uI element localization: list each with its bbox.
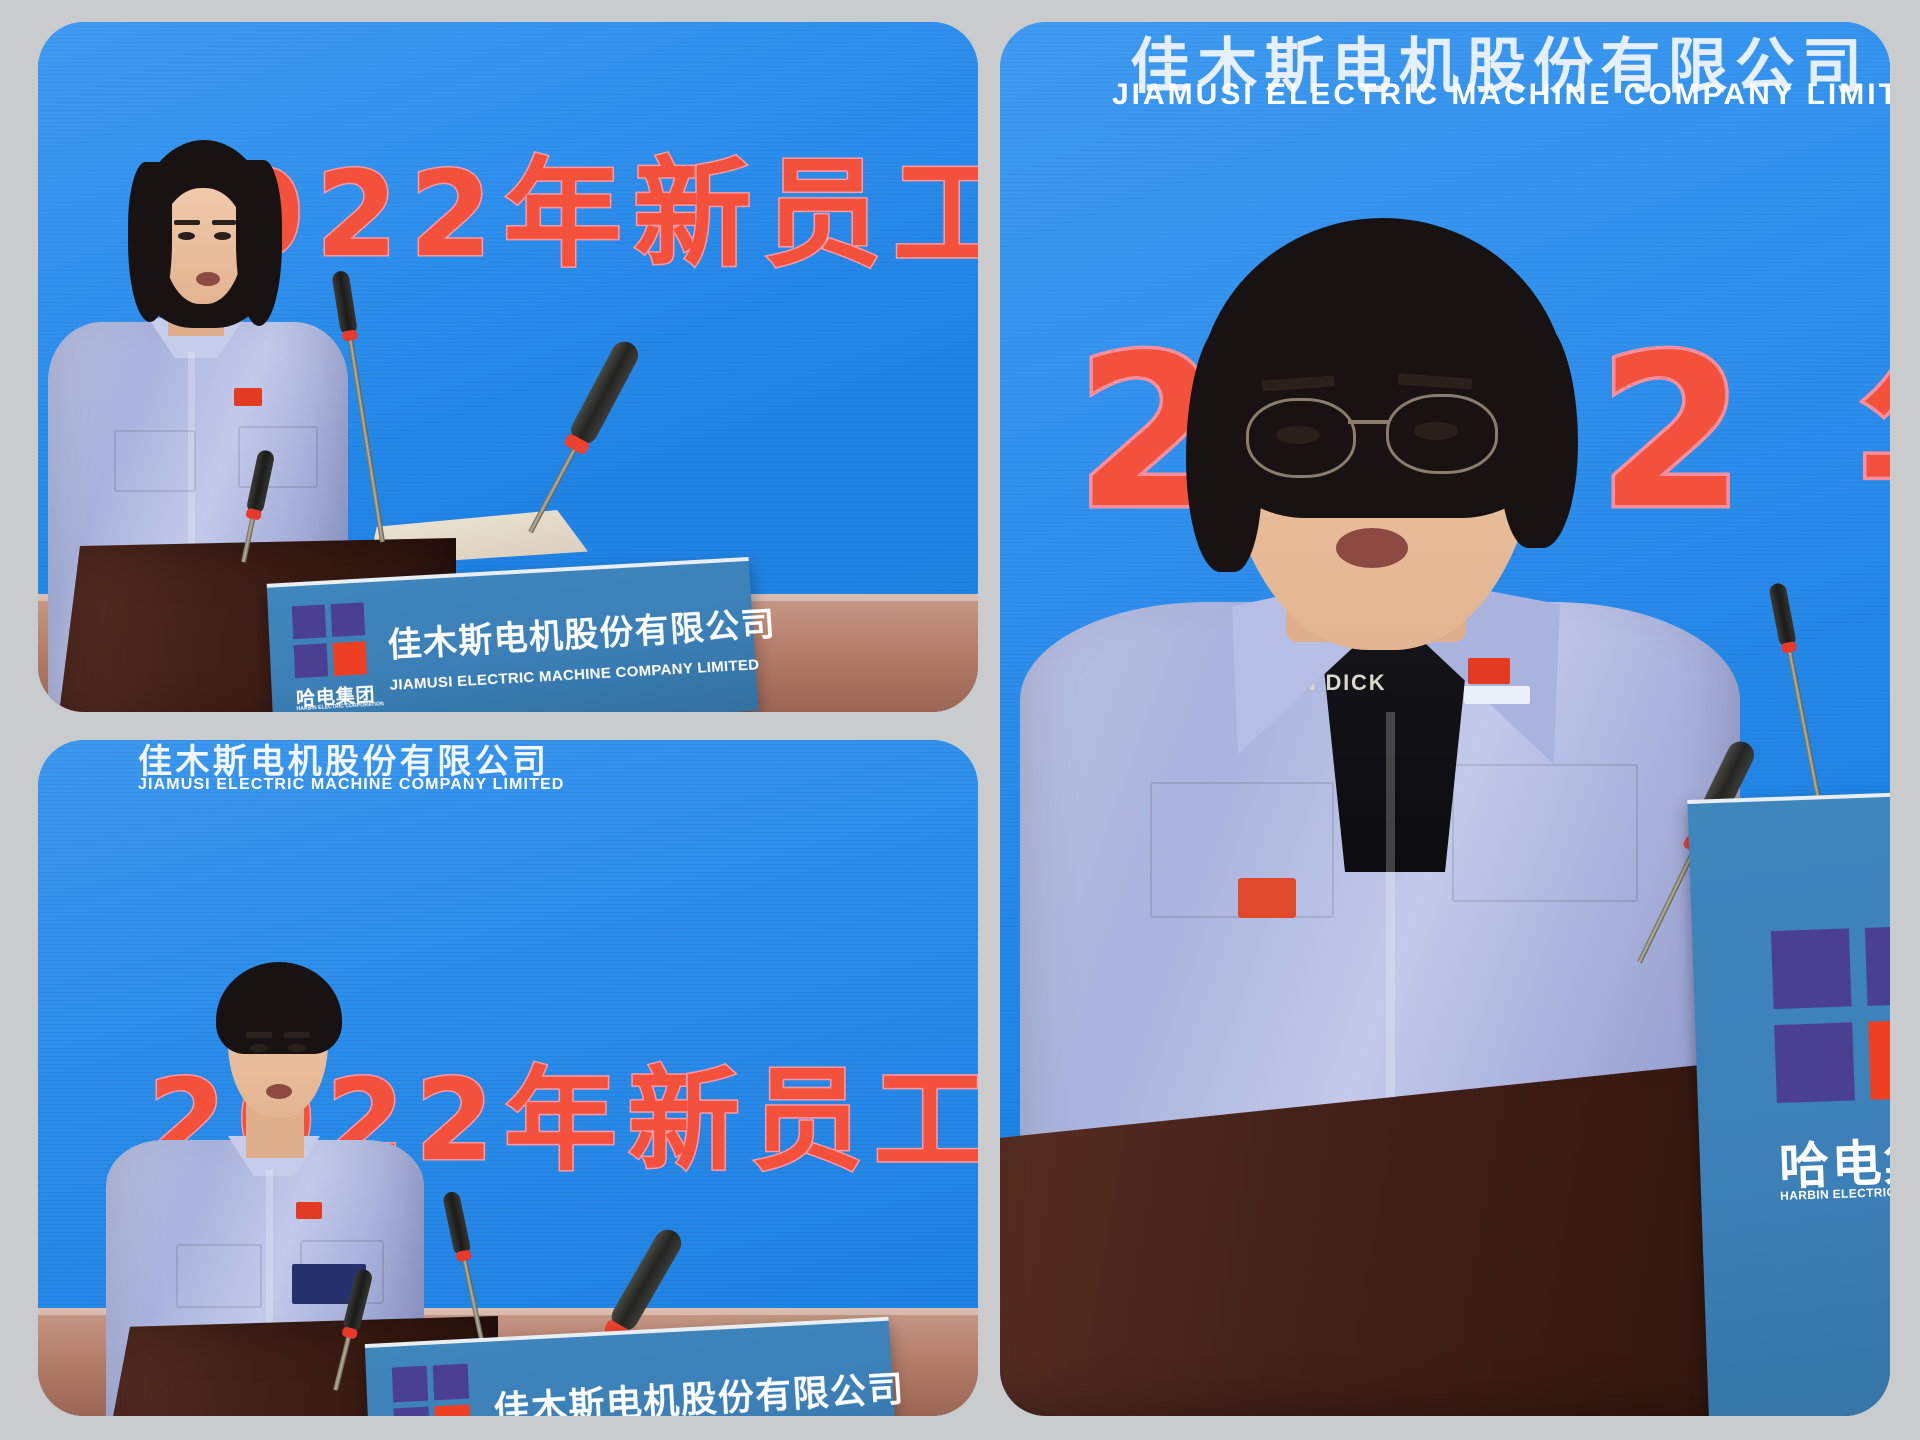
glasses-bridge bbox=[1348, 420, 1388, 424]
mouth bbox=[1336, 528, 1408, 568]
backdrop-caption-en: JIAMUSI ELECTRIC MACHINE COMPANY LIMITED bbox=[138, 776, 564, 794]
logo-quadrant-red bbox=[333, 641, 367, 676]
photo-panel-top-left: 2022年新员工 bbox=[38, 22, 978, 712]
logo-quadrant bbox=[1771, 928, 1852, 1009]
harbin-electric-logo: 哈电集团 HARBIN ELECTRIC CORPORATION bbox=[1771, 925, 1890, 1231]
lapel-pin bbox=[1468, 658, 1510, 684]
logo-quadrant bbox=[1774, 1022, 1855, 1103]
photo-collage: 2022年新员工 bbox=[0, 0, 1920, 1440]
logo-quadrant bbox=[292, 605, 326, 639]
logo-quadrant bbox=[392, 1366, 428, 1402]
logo-quadrant bbox=[394, 1407, 430, 1416]
harbin-electric-logo: 哈电集团 HARBIN ELECTRIC CORPORATION bbox=[292, 602, 369, 712]
logo-quadrant-red bbox=[435, 1405, 471, 1416]
logo-quadrant bbox=[433, 1364, 469, 1400]
chest-badge bbox=[1238, 878, 1296, 918]
shirt-print: N DICK bbox=[1300, 670, 1470, 696]
plate-company-cn: 佳木斯电机股份有限公司 bbox=[386, 596, 777, 667]
harbin-electric-logo: 哈电集团 HARBIN ELECTRIC CORPORATION bbox=[392, 1364, 473, 1416]
logo-quadrant bbox=[294, 644, 328, 679]
photo-panel-bottom-left: 佳木斯电机股份有限公司 JIAMUSI ELECTRIC MACHINE COM… bbox=[38, 740, 978, 1416]
podium-nameplate: 哈电集团 HARBIN ELECTRIC CORPORATION 佳木斯电机股份… bbox=[267, 557, 759, 712]
uniform-logo-tag bbox=[1464, 686, 1530, 704]
logo-quadrant bbox=[331, 602, 365, 636]
backdrop-caption-en: JIAMUSI ELECTRIC MACHINE COMPANY LIMITED bbox=[1112, 78, 1890, 112]
podium-nameplate: 哈电集团 HARBIN ELECTRIC CORPORATION bbox=[1687, 788, 1890, 1416]
logo-quadrant-red bbox=[1868, 1019, 1890, 1100]
photo-panel-right: 佳木斯电机股份有限公司 JIAMUSI ELECTRIC MACHINE COM… bbox=[1000, 22, 1890, 1416]
plate-company-cn: 佳木斯电机股份有限公司 bbox=[492, 1359, 906, 1416]
logo-quadrant bbox=[1865, 925, 1890, 1006]
